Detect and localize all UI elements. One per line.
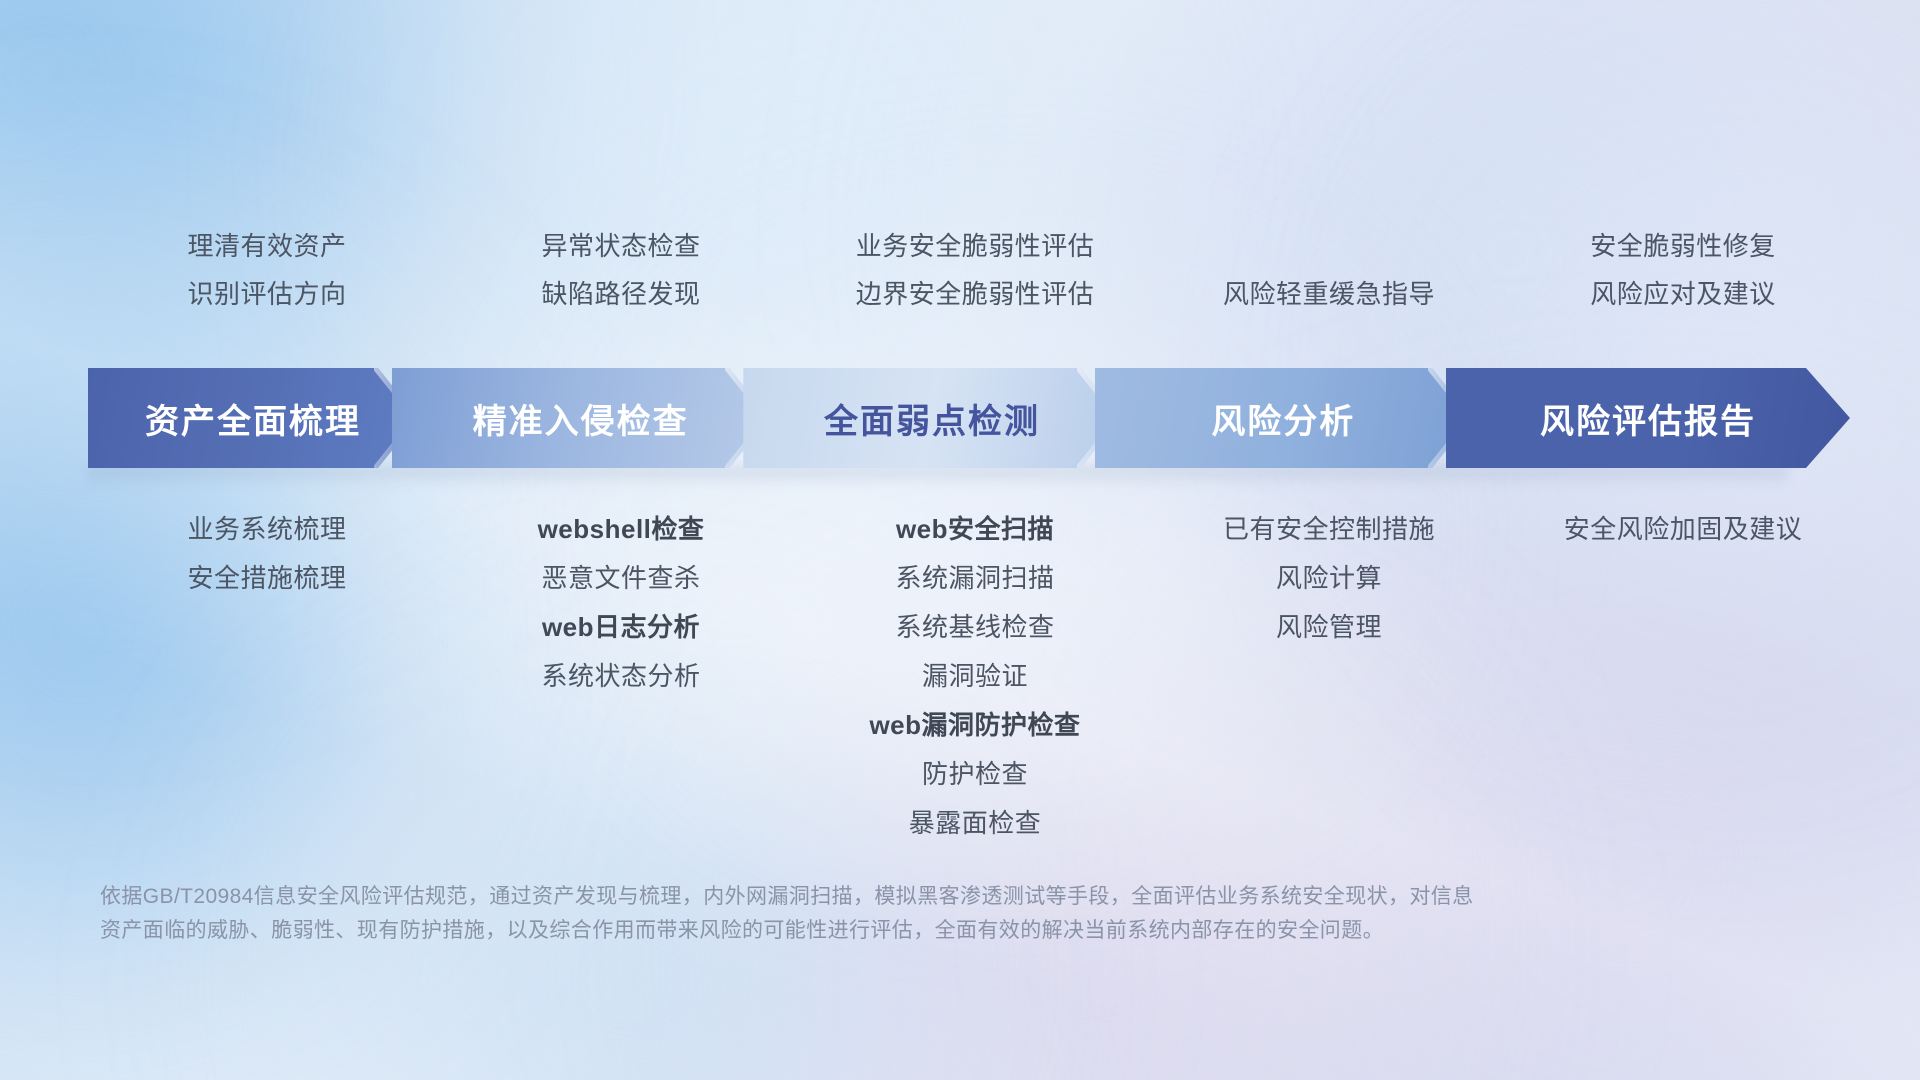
bottom-details-weakness-detection: web安全扫描 系统漏洞扫描 系统基线检查 漏洞验证 web漏洞防护检查 防护检… [798, 505, 1152, 848]
chevron-band: 资产全面梳理 精准入侵检查 全面弱点检测 风险分析 风险评估报告 [88, 368, 1850, 468]
chevron-label: 资产全面梳理 [145, 394, 361, 443]
detail-item: 防护检查 [922, 750, 1028, 799]
detail-item: 系统漏洞扫描 [895, 554, 1054, 603]
top-descriptors-risk-analysis: 风险轻重缓急指导 [1152, 270, 1506, 318]
chevron-band-shadow [88, 466, 1788, 488]
detail-item: 风险管理 [1276, 603, 1382, 652]
detail-item: webshell检查 [538, 505, 705, 554]
chevron-label: 风险分析 [1211, 394, 1355, 443]
bottom-details-asset-inventory: 业务系统梳理 安全措施梳理 [90, 505, 444, 603]
chevron-stage-intrusion-check[interactable]: 精准入侵检查 [392, 368, 769, 468]
footer-line-1: 依据GB/T20984信息安全风险评估规范，通过资产发现与梳理，内外网漏洞扫描，… [100, 880, 1630, 914]
chevron-label: 风险评估报告 [1540, 394, 1756, 443]
process-diagram: 理清有效资产 识别评估方向 异常状态检查 缺陷路径发现 业务安全脆弱性评估 边界… [0, 0, 1920, 1080]
detail-item: web日志分析 [542, 603, 700, 652]
detail-item: 安全风险加固及建议 [1564, 505, 1803, 554]
detail-item: 漏洞验证 [922, 652, 1028, 701]
footer-description: 依据GB/T20984信息安全风险评估规范，通过资产发现与梳理，内外网漏洞扫描，… [100, 880, 1630, 948]
chevron-label: 精准入侵检查 [473, 394, 689, 443]
top-descriptor-item: 缺陷路径发现 [541, 270, 700, 318]
top-descriptors-asset-inventory: 理清有效资产 识别评估方向 [90, 222, 444, 318]
top-descriptor-item: 安全脆弱性修复 [1590, 222, 1776, 270]
top-descriptor-item: 风险轻重缓急指导 [1223, 270, 1435, 318]
detail-item: 安全措施梳理 [187, 554, 346, 603]
top-descriptor-item: 风险应对及建议 [1590, 270, 1776, 318]
detail-item: 系统状态分析 [541, 652, 700, 701]
top-descriptors-intrusion-check: 异常状态检查 缺陷路径发现 [444, 222, 798, 318]
detail-item: 已有安全控制措施 [1223, 505, 1435, 554]
chevron-stage-risk-analysis[interactable]: 风险分析 [1095, 368, 1472, 468]
top-descriptor-item: 边界安全脆弱性评估 [856, 270, 1095, 318]
bottom-details-risk-analysis: 已有安全控制措施 风险计算 风险管理 [1152, 505, 1506, 652]
detail-item: 暴露面检查 [909, 799, 1042, 848]
detail-item: web安全扫描 [896, 505, 1054, 554]
chevron-stage-asset-inventory[interactable]: 资产全面梳理 [88, 368, 418, 468]
footer-line-2: 资产面临的威胁、脆弱性、现有防护措施，以及综合作用而带来风险的可能性进行评估，全… [100, 914, 1630, 948]
bottom-details-risk-report: 安全风险加固及建议 [1506, 505, 1860, 554]
top-descriptors-weakness-detection: 业务安全脆弱性评估 边界安全脆弱性评估 [798, 222, 1152, 318]
top-descriptor-row: 理清有效资产 识别评估方向 异常状态检查 缺陷路径发现 业务安全脆弱性评估 边界… [90, 222, 1860, 318]
top-descriptor-item: 业务安全脆弱性评估 [856, 222, 1095, 270]
top-descriptors-risk-report: 安全脆弱性修复 风险应对及建议 [1506, 222, 1860, 318]
bottom-detail-row: 业务系统梳理 安全措施梳理 webshell检查 恶意文件查杀 web日志分析 … [90, 505, 1860, 848]
top-descriptor-item: 识别评估方向 [187, 270, 346, 318]
detail-item: 系统基线检查 [895, 603, 1054, 652]
detail-item: 风险计算 [1276, 554, 1382, 603]
detail-item: 业务系统梳理 [187, 505, 346, 554]
chevron-stage-risk-report[interactable]: 风险评估报告 [1446, 368, 1850, 468]
detail-item: 恶意文件查杀 [541, 554, 700, 603]
detail-item: web漏洞防护检查 [869, 701, 1080, 750]
bottom-details-intrusion-check: webshell检查 恶意文件查杀 web日志分析 系统状态分析 [444, 505, 798, 701]
top-descriptor-item: 理清有效资产 [187, 222, 346, 270]
chevron-stage-weakness-detection[interactable]: 全面弱点检测 [743, 368, 1120, 468]
chevron-label: 全面弱点检测 [824, 394, 1040, 443]
top-descriptor-item: 异常状态检查 [541, 222, 700, 270]
